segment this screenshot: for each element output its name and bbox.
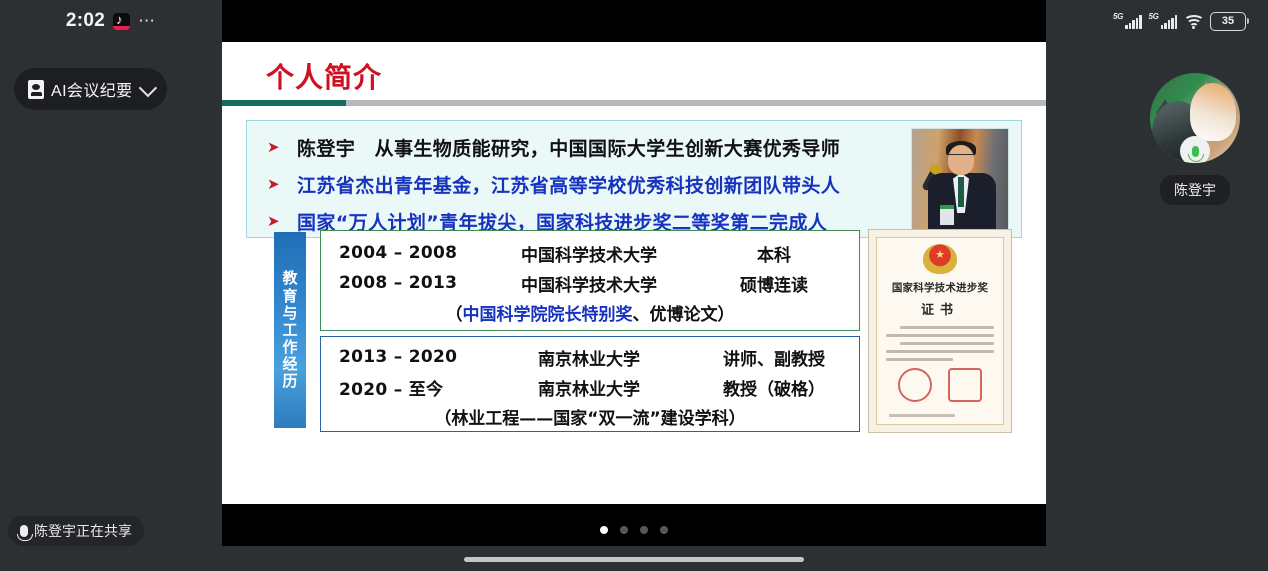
work-note: （林业工程——国家“双一流”建设学科） xyxy=(321,404,859,429)
bullet-arrow-icon: ➤ xyxy=(267,214,283,229)
ai-summary-icon xyxy=(28,80,44,99)
education-note-open: （ xyxy=(446,305,463,325)
work-note-rest: 林业工程——国家“双一流”建设学科） xyxy=(451,409,745,429)
table-row: 2020 – 至今 南京林业大学 教授（破格） xyxy=(321,372,859,402)
avatar xyxy=(1150,73,1240,163)
bullet-text: 江苏省杰出青年基金，江苏省高等学校优秀科技创新团队带头人 xyxy=(297,171,840,198)
award-certificate-image: 国家科学技术进步奖 证书 xyxy=(868,229,1012,433)
list-item: ➤ 江苏省杰出青年基金，江苏省高等学校优秀科技创新团队带头人 xyxy=(267,168,840,201)
seal-square-icon xyxy=(948,368,982,402)
work-title: 教授（破格） xyxy=(689,375,859,400)
profile-highlight-box: ➤ 陈登宇 从事生物质能研究，中国国际大学生创新大赛优秀导师 ➤ 江苏省杰出青年… xyxy=(246,120,1022,238)
slide-pagination[interactable] xyxy=(222,526,1046,534)
vlabel-char: 教 xyxy=(282,270,297,286)
work-experience-box: 2013 – 2020 南京林业大学 讲师、副教授 2020 – 至今 南京林业… xyxy=(320,336,860,432)
battery-icon: 35 xyxy=(1210,12,1246,31)
seal-round-icon xyxy=(898,368,932,402)
signal-5g-label-1: 5G xyxy=(1113,12,1123,21)
status-bar-left: 2:02 ⋯ xyxy=(0,0,222,42)
status-bar-right: 5G 5G 35 xyxy=(1043,0,1258,42)
share-status-label: 陈登宇正在共享 xyxy=(34,521,132,541)
wifi-icon xyxy=(1184,14,1203,29)
pagination-dot-4[interactable] xyxy=(660,526,668,534)
education-org: 中国科学技术大学 xyxy=(489,241,689,266)
certificate-inner: 国家科学技术进步奖 证书 xyxy=(876,237,1004,425)
participant-name: 陈登宇 xyxy=(1174,182,1216,198)
bullet-arrow-icon: ➤ xyxy=(267,177,283,192)
participant-name-pill: 陈登宇 xyxy=(1160,175,1230,205)
home-indicator[interactable] xyxy=(464,557,804,562)
education-year: 2008 – 2013 xyxy=(339,273,489,293)
table-row: 2013 – 2020 南京林业大学 讲师、副教授 xyxy=(321,342,859,372)
vlabel-char: 经 xyxy=(282,356,297,372)
education-degree: 本科 xyxy=(689,241,859,266)
education-year: 2004 – 2008 xyxy=(339,243,489,263)
battery-level-label: 35 xyxy=(1222,15,1234,27)
education-note-highlight: 中国科学院院长特别奖 xyxy=(463,305,633,325)
bullet-arrow-icon: ➤ xyxy=(267,140,283,155)
signal-5g-sim1-icon: 5G xyxy=(1113,13,1142,29)
education-note-rest: 、优博论文） xyxy=(633,305,735,325)
pagination-dot-2[interactable] xyxy=(620,526,628,534)
overflow-icon[interactable]: ⋯ xyxy=(138,16,156,26)
certificate-body-text xyxy=(886,326,994,361)
table-row: 2008 – 2013 中国科学技术大学 硕博连读 xyxy=(321,268,859,298)
chevron-down-icon[interactable] xyxy=(138,78,156,96)
work-org: 南京林业大学 xyxy=(489,345,689,370)
education-box: 2004 – 2008 中国科学技术大学 本科 2008 – 2013 中国科学… xyxy=(320,230,860,331)
microphone-icon xyxy=(20,525,28,537)
pagination-dot-3[interactable] xyxy=(640,526,648,534)
pagination-dot-1[interactable] xyxy=(600,526,608,534)
speaker-portrait-photo xyxy=(911,128,1009,232)
title-rule-accent xyxy=(222,100,346,106)
national-emblem-icon xyxy=(923,244,957,274)
douyin-app-icon xyxy=(113,13,130,30)
signal-5g-sim2-icon: 5G xyxy=(1149,13,1178,29)
certificate-title-line1: 国家科学技术进步奖 xyxy=(877,280,1003,295)
vlabel-char: 育 xyxy=(282,288,297,304)
participant-tile[interactable]: 陈登宇 xyxy=(1141,73,1249,205)
profile-bullet-list: ➤ 陈登宇 从事生物质能研究，中国国际大学生创新大赛优秀导师 ➤ 江苏省杰出青年… xyxy=(267,131,840,242)
page-title: 个人简介 xyxy=(266,56,382,96)
education-note: （中国科学院院长特别奖、优博论文） xyxy=(321,300,859,325)
section-label-education-work: 教 育 与 工 作 经 历 xyxy=(274,232,306,428)
work-year: 2013 – 2020 xyxy=(339,347,489,367)
work-note-open: （ xyxy=(434,409,451,429)
list-item: ➤ 陈登宇 从事生物质能研究，中国国际大学生创新大赛优秀导师 xyxy=(267,131,840,164)
vlabel-char: 工 xyxy=(282,322,297,338)
vlabel-char: 历 xyxy=(282,373,297,389)
share-status-pill[interactable]: 陈登宇正在共享 xyxy=(8,516,144,546)
screen-root: 2:02 ⋯ 5G 5G 35 AI会议纪要 陈登宇正在共享 xyxy=(0,0,1268,571)
work-year: 2020 – 至今 xyxy=(339,375,489,400)
ai-meeting-minutes-label: AI会议纪要 xyxy=(51,77,133,101)
microphone-active-icon xyxy=(1180,136,1210,163)
work-title: 讲师、副教授 xyxy=(689,345,859,370)
signal-5g-label-2: 5G xyxy=(1149,12,1159,21)
certificate-serial xyxy=(889,414,955,417)
education-org: 中国科学技术大学 xyxy=(489,271,689,296)
vlabel-char: 作 xyxy=(282,339,297,355)
bullet-text: 陈登宇 从事生物质能研究，中国国际大学生创新大赛优秀导师 xyxy=(297,134,840,161)
table-row: 2004 – 2008 中国科学技术大学 本科 xyxy=(321,238,859,268)
clock: 2:02 xyxy=(66,10,105,32)
certificate-title-line2: 证书 xyxy=(877,299,1003,318)
ai-meeting-minutes-button[interactable]: AI会议纪要 xyxy=(14,68,167,110)
certificate-seals xyxy=(877,368,1003,402)
work-org: 南京林业大学 xyxy=(489,375,689,400)
education-degree: 硕博连读 xyxy=(689,271,859,296)
shared-screen-stage[interactable]: 个人简介 ➤ 陈登宇 从事生物质能研究，中国国际大学生创新大赛优秀导师 ➤ 江苏… xyxy=(222,0,1046,546)
presentation-slide: 个人简介 ➤ 陈登宇 从事生物质能研究，中国国际大学生创新大赛优秀导师 ➤ 江苏… xyxy=(222,42,1046,504)
vlabel-char: 与 xyxy=(282,305,297,321)
